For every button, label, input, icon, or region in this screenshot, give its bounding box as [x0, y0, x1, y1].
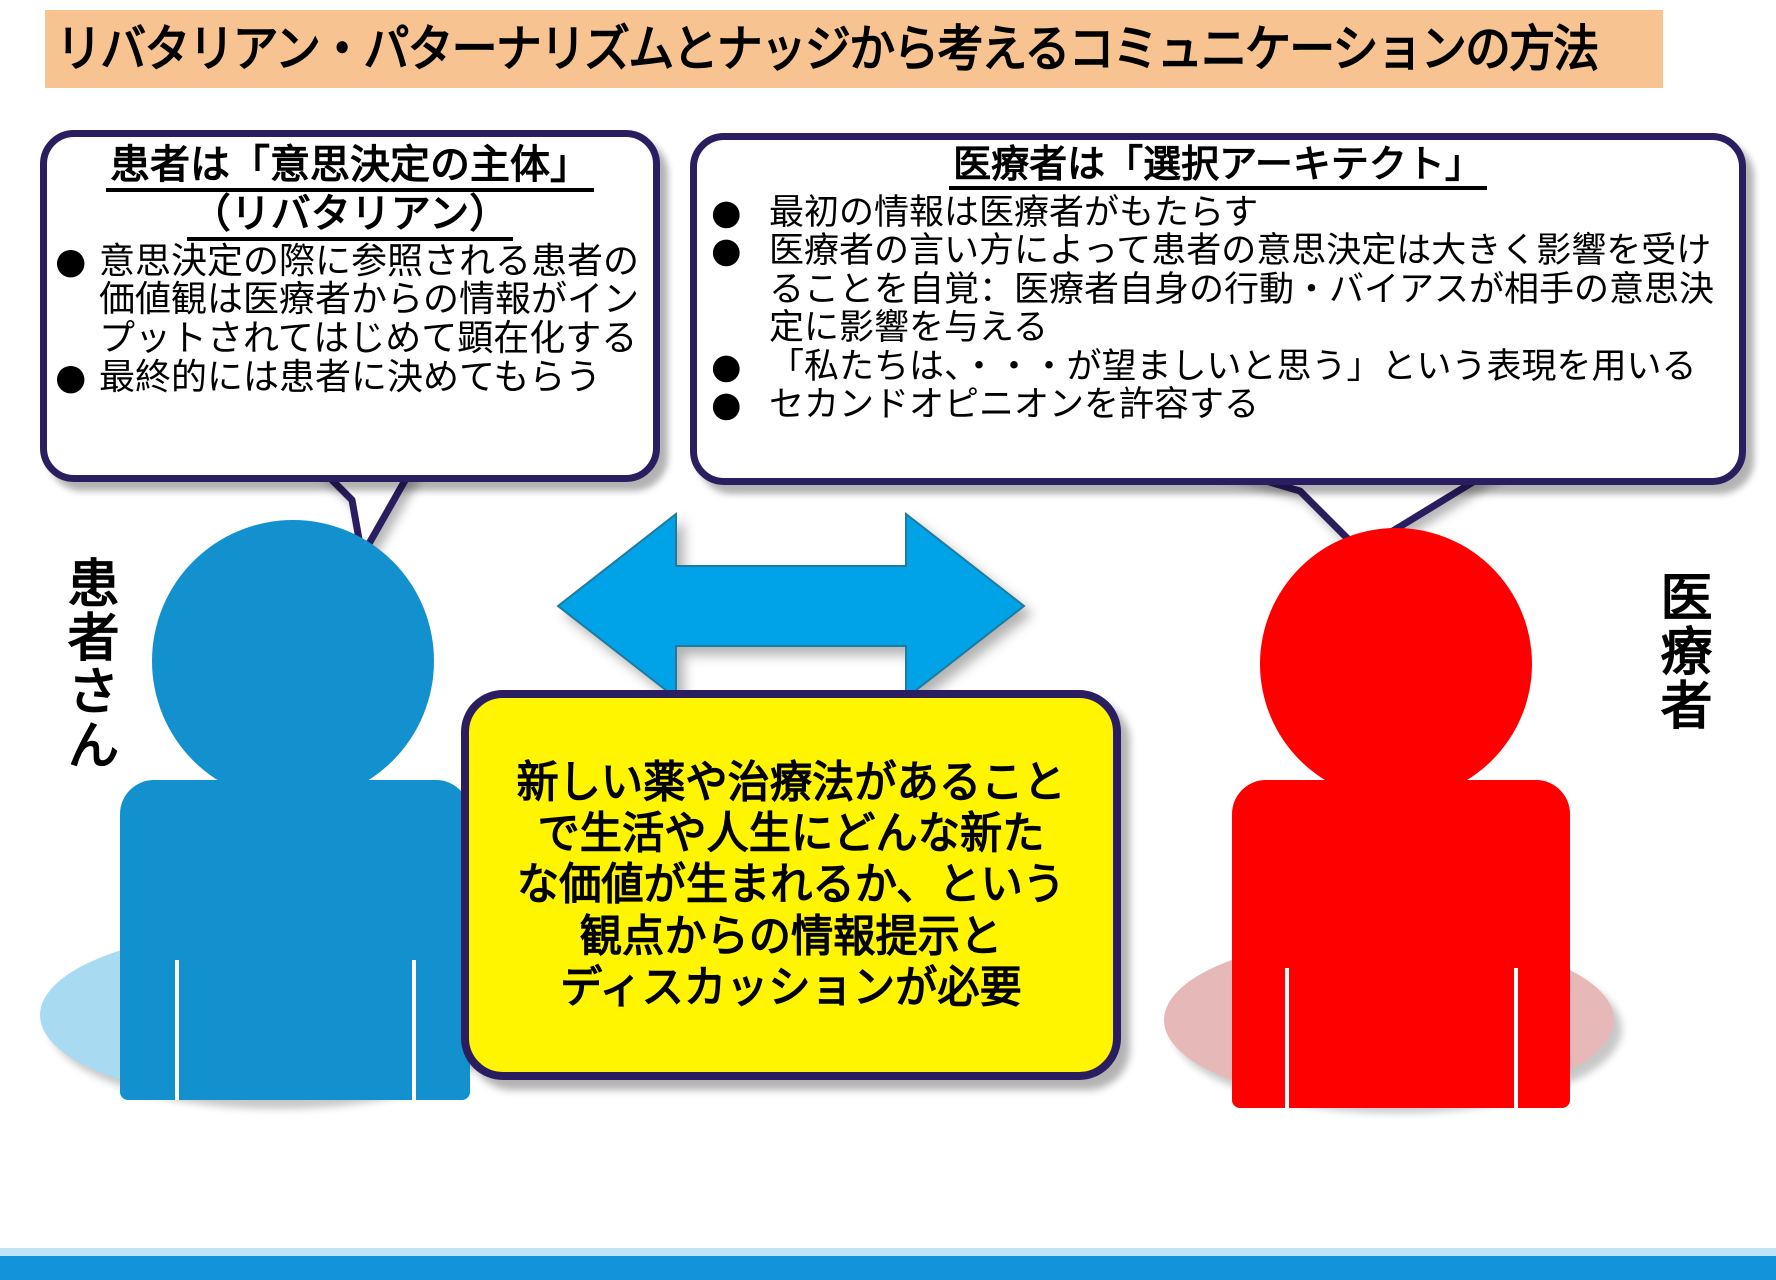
right-bubble-list: ● 最初の情報は医療者がもたらす ● 医療者の言い方によって患者の意思決定は大き… [711, 194, 1721, 425]
right-speech-bubble: 医療者は「選択アーキテクト」 ● 最初の情報は医療者がもたらす ● 医療者の言い… [690, 133, 1746, 485]
list-item: ● 最終的には患者に決めてもらう [55, 359, 641, 398]
list-item-text: 医療者の言い方によって患者の意思決定は大きく影響を受けることを自覚：医療者自身の… [769, 231, 1714, 348]
center-line: 新しい薬や治療法があること [516, 757, 1065, 808]
bullet-icon: ● [711, 194, 746, 233]
center-line: な価値が生まれるか、という [516, 859, 1065, 910]
footer-blue-bar [0, 1256, 1776, 1280]
list-item-text: 意思決定の際に参照される患者の価値観は医療者からの情報がインプットされてはじめて… [99, 241, 639, 360]
bullet-icon: ● [55, 359, 91, 398]
list-item: ● 最初の情報は医療者がもたらす [711, 194, 1721, 233]
list-item-text: 最終的には患者に決めてもらう [99, 357, 601, 398]
bullet-icon: ● [711, 232, 746, 271]
list-item: ● 「私たちは、・・・が望ましいと思う」という表現を用いる [711, 348, 1721, 387]
provider-figure-arm-gap-right [1514, 968, 1518, 1108]
provider-figure-head [1260, 528, 1532, 800]
list-item-text: 最初の情報は医療者がもたらす [769, 193, 1258, 233]
list-item-text: 「私たちは、・・・が望ましいと思う」という表現を用いる [769, 347, 1697, 387]
left-bubble-heading-line2: （リバタリアン） [187, 192, 513, 241]
list-item: ● セカンドオピニオンを許容する [711, 386, 1721, 425]
slide-title-banner: リバタリアン・パターナリズムとナッジから考えるコミュニケーションの方法 [45, 10, 1663, 88]
slide-canvas: リバタリアン・パターナリズムとナッジから考えるコミュニケーションの方法 患者は「… [0, 0, 1776, 1280]
patient-figure-arm-gap-left [175, 960, 179, 1100]
provider-figure-arm-gap-left [1285, 968, 1289, 1108]
center-line: ディスカッションが必要 [516, 962, 1065, 1013]
double-headed-arrow-icon [556, 512, 1026, 700]
patient-figure-body [120, 780, 470, 1100]
provider-figure [1140, 528, 1660, 1108]
list-item: ● 医療者の言い方によって患者の意思決定は大きく影響を受けることを自覚：医療者自… [711, 232, 1721, 348]
provider-label: 医療者 [1655, 570, 1707, 732]
center-emphasis-text: 新しい薬や治療法があること で生活や人生にどんな新た な価値が生まれるか、という… [516, 757, 1065, 1012]
left-speech-bubble: 患者は「意思決定の主体」 （リバタリアン） ● 意思決定の際に参照される患者の価… [40, 130, 660, 482]
center-line: 観点からの情報提示と [516, 911, 1065, 962]
bullet-icon: ● [711, 348, 746, 387]
footer-light-bar [0, 1248, 1776, 1256]
patient-figure-arm-gap-right [412, 960, 416, 1100]
right-bubble-heading: 医療者は「選択アーキテクト」 [697, 140, 1739, 190]
list-item: ● 意思決定の際に参照される患者の価値観は医療者からの情報がインプットされてはじ… [55, 243, 641, 360]
bullet-icon: ● [711, 386, 746, 425]
right-bubble-heading-text: 医療者は「選択アーキテクト」 [949, 144, 1487, 190]
list-item-text: セカンドオピニオンを許容する [769, 385, 1259, 425]
center-line: で生活や人生にどんな新た [516, 808, 1065, 859]
bullet-icon: ● [55, 243, 91, 282]
patient-label: 患者さん [62, 556, 114, 772]
center-emphasis-box: 新しい薬や治療法があること で生活や人生にどんな新た な価値が生まれるか、という… [461, 690, 1121, 1080]
left-bubble-heading-line1: 患者は「意思決定の主体」 [106, 143, 594, 192]
page-title: リバタリアン・パターナリズムとナッジから考えるコミュニケーションの方法 [45, 24, 1598, 74]
left-bubble-list: ● 意思決定の際に参照される患者の価値観は医療者からの情報がインプットされてはじ… [55, 243, 641, 399]
provider-figure-body [1232, 780, 1570, 1108]
patient-figure-head [152, 520, 434, 802]
left-bubble-heading: 患者は「意思決定の主体」 （リバタリアン） [47, 137, 653, 241]
